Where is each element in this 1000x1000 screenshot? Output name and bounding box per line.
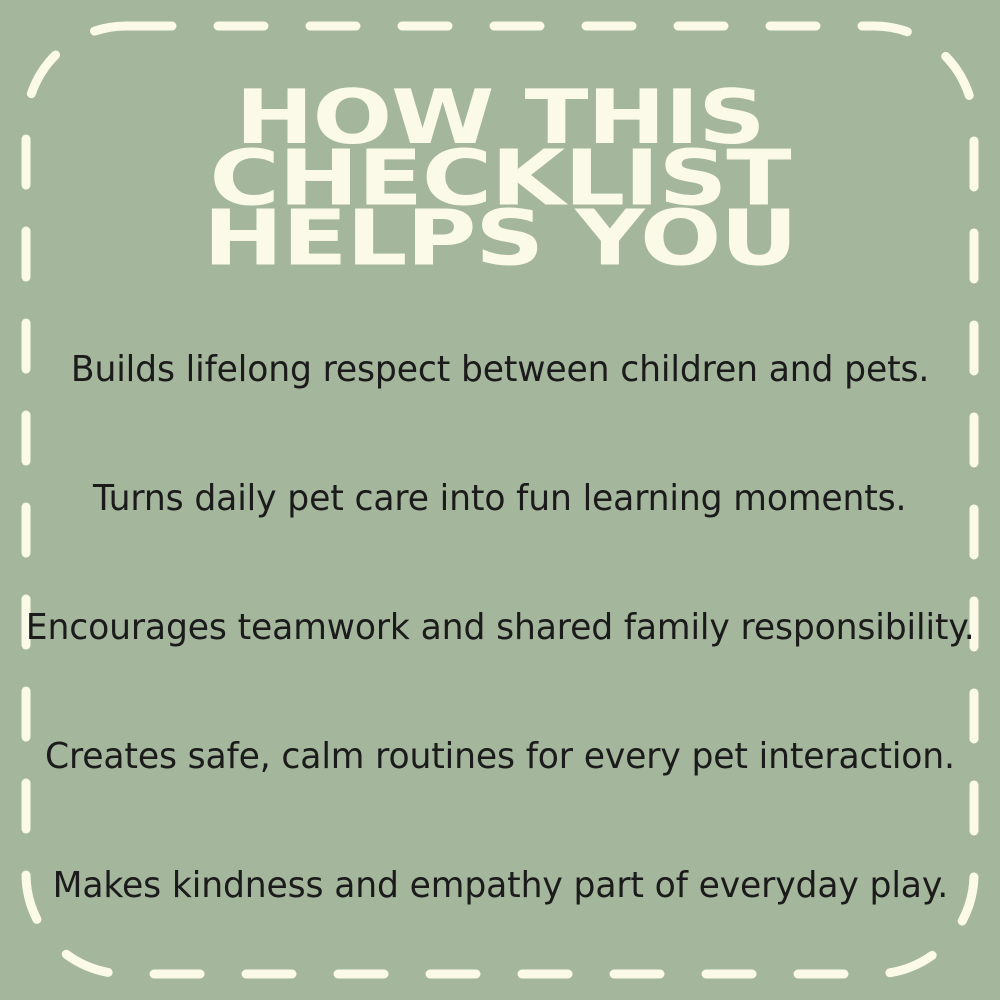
- list-item: Builds lifelong respect between children…: [0, 306, 1000, 435]
- poster-canvas: HOW THIS CHECKLIST HELPS YOU Builds life…: [0, 0, 1000, 1000]
- benefit-list: Builds lifelong respect between children…: [0, 306, 1000, 951]
- headline-line-3: HELPS YOU: [0, 206, 1000, 272]
- benefit-text-1: Builds lifelong respect between children…: [71, 351, 929, 389]
- page-title: HOW THIS CHECKLIST HELPS YOU: [0, 86, 1000, 268]
- list-item: Encourages teamwork and shared family re…: [0, 564, 1000, 693]
- poster-content: HOW THIS CHECKLIST HELPS YOU Builds life…: [0, 0, 1000, 1000]
- list-item: Turns daily pet care into fun learning m…: [0, 435, 1000, 564]
- benefit-text-2: Turns daily pet care into fun learning m…: [93, 480, 906, 518]
- list-item: Makes kindness and empathy part of every…: [0, 822, 1000, 951]
- benefit-text-4: Creates safe, calm routines for every pe…: [45, 738, 955, 776]
- benefit-text-5: Makes kindness and empathy part of every…: [52, 867, 947, 905]
- list-item: Creates safe, calm routines for every pe…: [0, 693, 1000, 822]
- benefit-text-3: Encourages teamwork and shared family re…: [26, 609, 975, 647]
